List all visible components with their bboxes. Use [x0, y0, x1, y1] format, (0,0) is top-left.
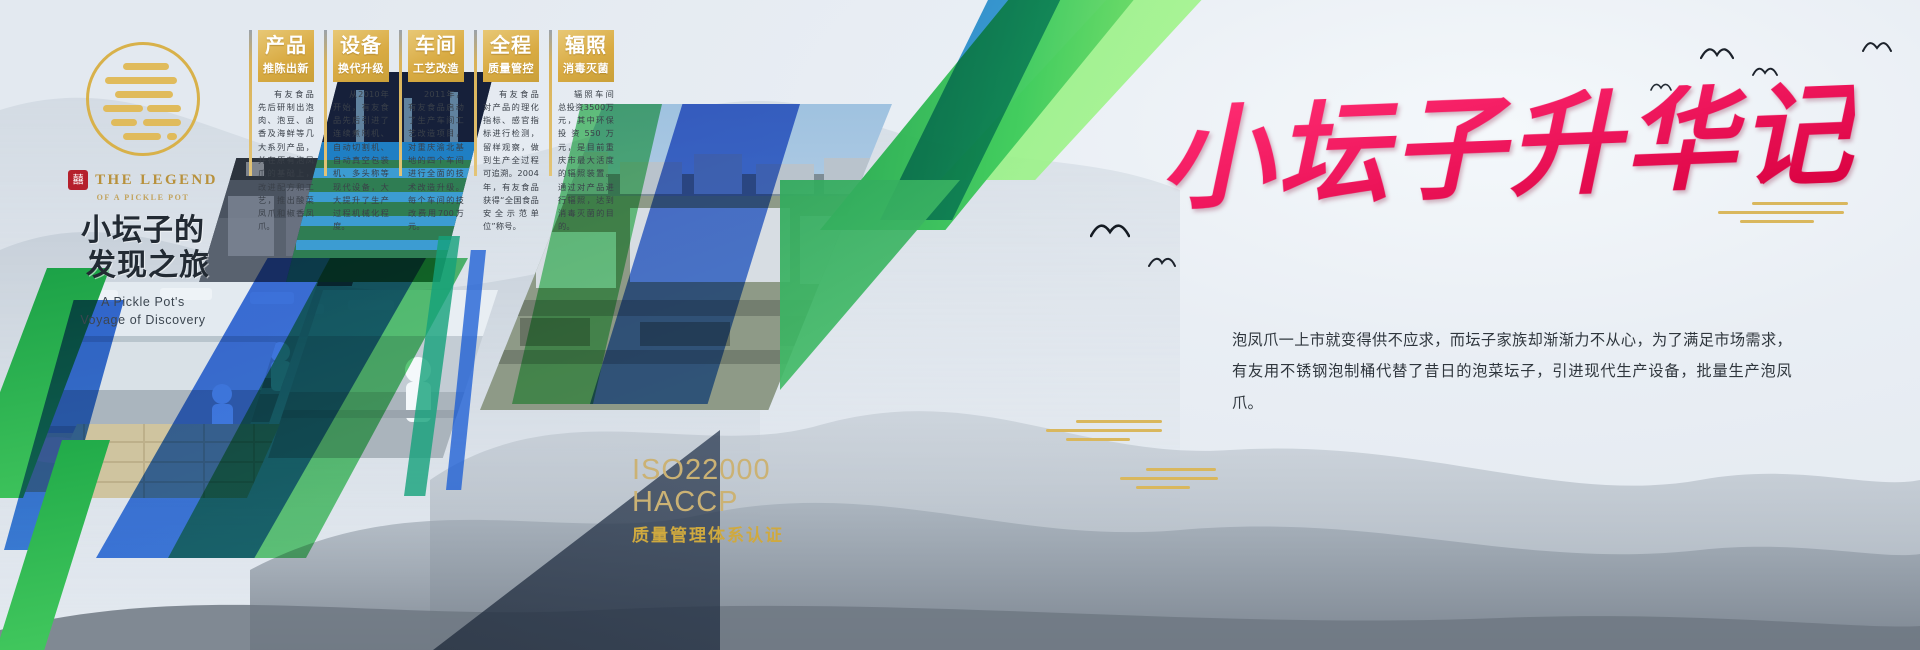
- card-title: 设备: [336, 35, 386, 57]
- info-card-4: 全程 质量管控 有友食品对产品的理化指标、感官指标进行检测，留样观察，做到生产全…: [483, 30, 539, 234]
- card-title: 辐照: [561, 35, 611, 57]
- card-header: 全程 质量管控: [483, 30, 539, 82]
- card-rail: [249, 30, 252, 176]
- info-card-3: 车间 工艺改造 2011年，有友食品启动了生产车间工艺改造项目，对重庆渝北基地的…: [408, 30, 464, 234]
- cloud-motif-right: [1718, 202, 1848, 229]
- info-card-1: 产品 推陈出新 有友食品先后研制出泡肉、泡豆、卤香及海鲜等几大系列产品，并在原有…: [258, 30, 314, 234]
- card-title: 全程: [486, 35, 536, 57]
- bird-icon-3: [1650, 82, 1672, 92]
- certification-label-cn: 质量管理体系认证: [632, 521, 784, 546]
- certification-haccp: HACCP: [632, 487, 784, 519]
- brand-title-en: A Pickle Pot's Voyage of Discovery: [38, 293, 248, 329]
- card-body: 有友食品先后研制出泡肉、泡豆、卤香及海鲜等几大系列产品，并在原有泡凤爪的基础上，…: [258, 88, 314, 234]
- red-seal-icon: 囍: [68, 170, 88, 190]
- info-card-strip: 产品 推陈出新 有友食品先后研制出泡肉、泡豆、卤香及海鲜等几大系列产品，并在原有…: [258, 30, 614, 234]
- bird-icon-1: [1700, 46, 1734, 62]
- pot-logo-icon: [86, 42, 200, 156]
- brand-title-cn: 小坛子的 发现之旅: [38, 214, 248, 284]
- brand-title-cn-line1: 小坛子的: [38, 214, 248, 249]
- card-header: 车间 工艺改造: [408, 30, 464, 82]
- bird-icon-2: [1752, 66, 1778, 78]
- certification-iso: ISO22000: [632, 455, 784, 487]
- cloud-motif-left-lower: [1120, 468, 1220, 495]
- certification-block: ISO22000 HACCP 质量管理体系认证: [632, 455, 784, 546]
- card-rail: [549, 30, 552, 176]
- card-body: 辐照车间总投资3500万元，其中环保投资550万元，是目前重庆市最大活度的辐照装…: [558, 88, 614, 234]
- card-body: 2011年，有友食品启动了生产车间工艺改造项目，对重庆渝北基地的四个车间进行全面…: [408, 88, 464, 234]
- card-header: 产品 推陈出新: [258, 30, 314, 82]
- legend-lockup: 囍 THE LEGEND: [38, 170, 248, 190]
- card-body: 有友食品对产品的理化指标、感官指标进行检测，留样观察，做到生产全过程可追溯。20…: [483, 88, 539, 234]
- card-subtitle: 推陈出新: [261, 60, 311, 76]
- card-subtitle: 工艺改造: [411, 60, 461, 76]
- card-header: 辐照 消毒灭菌: [558, 30, 614, 82]
- card-rail: [399, 30, 402, 176]
- card-subtitle: 换代升级: [336, 60, 386, 76]
- bird-icon-6: [1148, 256, 1176, 269]
- card-title: 产品: [261, 35, 311, 57]
- photo-tile-floor: [44, 424, 280, 498]
- card-subtitle: 质量管控: [486, 60, 536, 76]
- hero-title: 小坛子升华记: [1158, 79, 1858, 218]
- legend-text: THE LEGEND: [95, 172, 218, 189]
- brand-title-en-line1: A Pickle Pot's: [38, 293, 248, 311]
- info-card-2: 设备 换代升级 从2010年开始，有友食品先后引进了连续煮制机、自动切割机、自动…: [333, 30, 389, 234]
- card-rail: [474, 30, 477, 176]
- brand-title-cn-line2: 发现之旅: [38, 249, 248, 284]
- brand-title-en-line2: Voyage of Discovery: [38, 311, 248, 329]
- card-body: 从2010年开始，有友食品先后引进了连续煮制机、自动切割机、自动真空包装机、多头…: [333, 88, 389, 234]
- legend-subtext: OF A PICKLE POT: [38, 193, 248, 202]
- info-card-5: 辐照 消毒灭菌 辐照车间总投资3500万元，其中环保投资550万元，是目前重庆市…: [558, 30, 614, 234]
- card-rail: [324, 30, 327, 176]
- card-subtitle: 消毒灭菌: [561, 60, 611, 76]
- bird-icon-5: [1090, 222, 1130, 240]
- bird-icon-4: [1862, 40, 1892, 54]
- brand-block: 囍 THE LEGEND OF A PICKLE POT 小坛子的 发现之旅 A…: [38, 38, 248, 329]
- card-header: 设备 换代升级: [333, 30, 389, 82]
- cloud-motif-left-upper: [1046, 420, 1166, 447]
- hero-paragraph: 泡凤爪一上市就变得供不应求，而坛子家族却渐渐力不从心，为了满足市场需求，有友用不…: [1232, 325, 1792, 419]
- poster-canvas: 囍 THE LEGEND OF A PICKLE POT 小坛子的 发现之旅 A…: [0, 0, 1920, 650]
- card-title: 车间: [411, 35, 461, 57]
